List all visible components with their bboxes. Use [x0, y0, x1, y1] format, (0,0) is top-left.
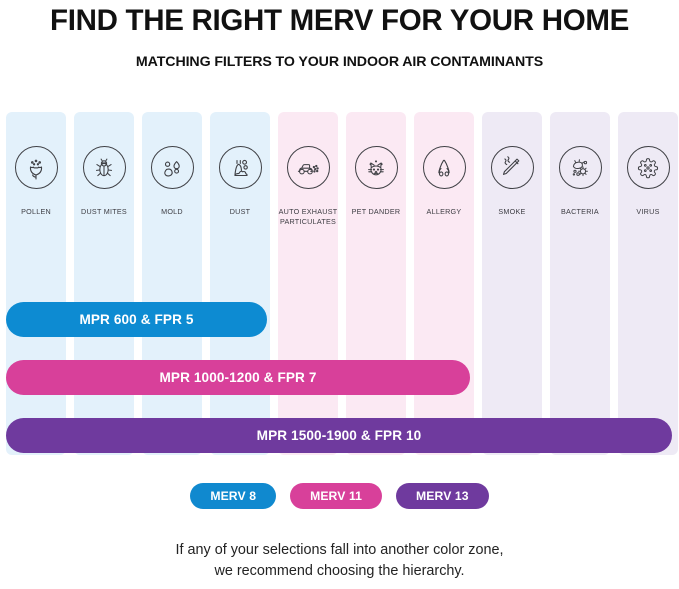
contaminant-label: DUST — [206, 207, 274, 217]
icon-wrap — [618, 146, 678, 189]
icon-wrap — [550, 146, 610, 189]
contaminant-label: POLLEN — [2, 207, 70, 217]
mpr-bar-label: MPR 1500-1900 & FPR 10 — [257, 428, 422, 443]
legend-badge-merv8[interactable]: MERV 8 — [190, 483, 276, 509]
icon-wrap — [278, 146, 338, 189]
contaminant-column-dust[interactable]: DUST — [210, 112, 270, 455]
mold-spores-icon — [151, 146, 194, 189]
icon-wrap — [74, 146, 134, 189]
contaminant-label: PET DANDER — [342, 207, 410, 217]
contaminant-column-smoke[interactable]: SMOKE — [482, 112, 542, 455]
contaminant-label: SMOKE — [478, 207, 546, 217]
page-subtitle: MATCHING FILTERS TO YOUR INDOOR AIR CONT… — [0, 54, 679, 70]
contaminant-column-pet-dander[interactable]: PET DANDER — [346, 112, 406, 455]
cigarette-icon — [491, 146, 534, 189]
mpr-bar-merv11[interactable]: MPR 1000-1200 & FPR 7 — [6, 360, 470, 395]
dust-mite-icon — [83, 146, 126, 189]
contaminant-label: ALLERGY — [410, 207, 478, 217]
icon-wrap — [142, 146, 202, 189]
contaminant-label: VIRUS — [614, 207, 679, 217]
icon-wrap — [6, 146, 66, 189]
infographic-header: FIND THE RIGHT MERV FOR YOUR HOME MATCHI… — [0, 0, 679, 70]
car-exhaust-icon — [287, 146, 330, 189]
footer-note: If any of your selections fall into anot… — [0, 540, 679, 582]
cat-face-icon — [355, 146, 398, 189]
contaminant-column-allergy[interactable]: ALLERGY — [414, 112, 474, 455]
contaminant-column-auto-exhaust[interactable]: AUTO EXHAUST PARTICULATES — [278, 112, 338, 455]
footer-line-1: If any of your selections fall into anot… — [0, 540, 679, 561]
footer-line-2: we recommend choosing the hierarchy. — [0, 561, 679, 582]
contaminant-label: MOLD — [138, 207, 206, 217]
page-title: FIND THE RIGHT MERV FOR YOUR HOME — [0, 4, 679, 38]
merv-legend: MERV 8 MERV 11 MERV 13 — [0, 483, 679, 509]
bacteria-icon — [559, 146, 602, 189]
mpr-bar-label: MPR 600 & FPR 5 — [79, 312, 193, 327]
contaminant-column-mold[interactable]: MOLD — [142, 112, 202, 455]
mpr-bar-merv13[interactable]: MPR 1500-1900 & FPR 10 — [6, 418, 672, 453]
contaminant-column-pollen[interactable]: POLLEN — [6, 112, 66, 455]
nose-icon — [423, 146, 466, 189]
contaminant-columns: POLLEN DUST MITES — [6, 112, 673, 455]
dust-furniture-icon — [219, 146, 262, 189]
contaminant-column-virus[interactable]: VIRUS — [618, 112, 678, 455]
contaminant-label: AUTO EXHAUST PARTICULATES — [274, 207, 342, 226]
contaminant-label: DUST MITES — [70, 207, 138, 217]
icon-wrap — [346, 146, 406, 189]
icon-wrap — [414, 146, 474, 189]
contaminant-column-dust-mites[interactable]: DUST MITES — [74, 112, 134, 455]
mpr-bar-merv8[interactable]: MPR 600 & FPR 5 — [6, 302, 267, 337]
virus-icon — [627, 146, 670, 189]
flower-icon — [15, 146, 58, 189]
mpr-bar-label: MPR 1000-1200 & FPR 7 — [160, 370, 317, 385]
icon-wrap — [482, 146, 542, 189]
legend-badge-merv11[interactable]: MERV 11 — [290, 483, 382, 509]
icon-wrap — [210, 146, 270, 189]
contaminant-label: BACTERIA — [546, 207, 614, 217]
contaminant-column-bacteria[interactable]: BACTERIA — [550, 112, 610, 455]
legend-badge-merv13[interactable]: MERV 13 — [396, 483, 489, 509]
